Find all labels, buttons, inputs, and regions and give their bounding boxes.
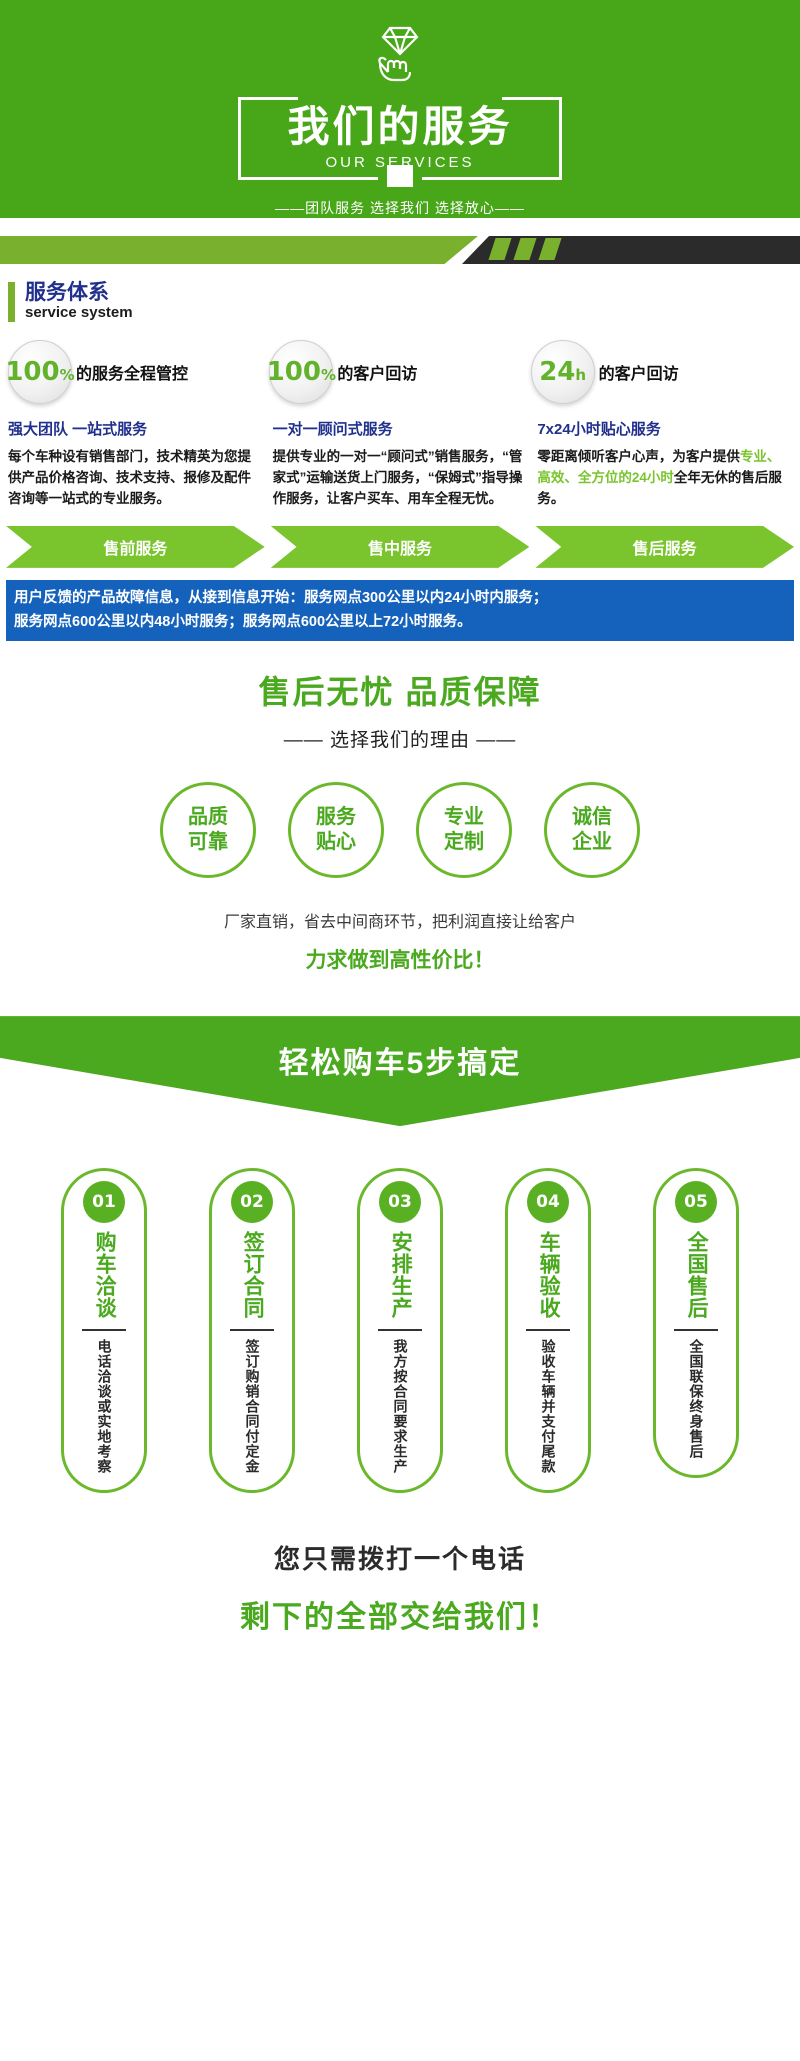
guarantee-circle-3-line1: 专业 bbox=[444, 805, 484, 830]
guarantee-circle-4-line1: 诚信 bbox=[572, 805, 612, 830]
step-capsule-5: 05 全国售后 全国联保终身售后 bbox=[653, 1168, 739, 1478]
hero-frame-tab bbox=[387, 165, 413, 187]
stage-arrow-aftersale[interactable]: 售后服务 bbox=[535, 526, 794, 568]
step-desc-5: 全国联保终身售后 bbox=[687, 1339, 706, 1459]
hero-banner: 我们的服务 OUR SERVICES ——团队服务 选择我们 选择放心—— bbox=[0, 0, 800, 218]
badge-unit-1: % bbox=[60, 366, 75, 384]
step-desc-1: 电话洽谈或实地考察 bbox=[95, 1339, 114, 1474]
guarantee-circle-2: 服务 贴心 bbox=[288, 782, 384, 878]
column-body-3-pre: 零距离倾听客户心声，为客户提供 bbox=[537, 449, 740, 464]
badge-unit-2: % bbox=[321, 366, 336, 384]
step-divider-4 bbox=[526, 1329, 570, 1331]
step-title-2: 签订合同 bbox=[240, 1231, 264, 1319]
badge-circle-icon-3: 24h bbox=[531, 340, 595, 404]
step-title-5: 全国售后 bbox=[684, 1231, 708, 1319]
step-desc-3: 我方按合同要求生产 bbox=[391, 1339, 410, 1474]
step-desc-4: 验收车辆并支付尾款 bbox=[539, 1339, 558, 1474]
step-item-1[interactable]: 01 购车洽谈 电话洽谈或实地考察 bbox=[37, 1168, 171, 1493]
badge-circle-icon-1: 100% bbox=[8, 340, 72, 404]
step-item-3[interactable]: 03 安排生产 我方按合同要求生产 bbox=[333, 1168, 467, 1493]
section-title-cn: 服务体系 bbox=[25, 282, 133, 304]
stage-arrow-insale[interactable]: 售中服务 bbox=[271, 526, 530, 568]
section-heading: 服务体系 service system bbox=[0, 270, 800, 322]
step-divider-5 bbox=[674, 1329, 718, 1331]
column-heading-3: 7x24小时贴心服务 bbox=[537, 418, 792, 439]
badge-value-3: 24 bbox=[539, 357, 575, 387]
column-body-1: 每个车种设有销售部门，技术精英为您提供产品价格咨询、技术支持、报修及配件咨询等一… bbox=[8, 447, 263, 510]
diamond-hand-icon bbox=[372, 22, 428, 89]
badge-item-3: 24h 的客户回访 bbox=[531, 340, 792, 404]
notice-line-2: 服务网点600公里以内48小时服务；服务网点600公里以上72小时服务。 bbox=[14, 610, 786, 635]
badge-label-1: 的服务全程管控 bbox=[76, 360, 188, 384]
step-number-3: 03 bbox=[379, 1181, 421, 1223]
step-item-5[interactable]: 05 全国售后 全国联保终身售后 bbox=[629, 1168, 763, 1493]
step-number-1: 01 bbox=[83, 1181, 125, 1223]
step-title-3: 安排生产 bbox=[388, 1231, 412, 1319]
hero-title: 我们的服务 bbox=[287, 106, 512, 148]
step-number-5: 05 bbox=[675, 1181, 717, 1223]
badge-circle-icon-2: 100% bbox=[269, 340, 333, 404]
badge-item-1: 100% 的服务全程管控 bbox=[8, 340, 269, 404]
ribbon-green-bar bbox=[0, 236, 478, 264]
decorative-ribbon bbox=[0, 228, 800, 270]
step-title-1: 购车洽谈 bbox=[92, 1231, 116, 1319]
footer-line-1: 您只需拨打一个电话 bbox=[0, 1539, 800, 1576]
column-body-2: 提供专业的一对一“顾问式”销售服务，“管家式”运输送货上门服务，“保姆式”指导操… bbox=[273, 447, 528, 510]
service-column-3: 7x24小时贴心服务 零距离倾听客户心声，为客户提供专业、高效、全方位的24小时… bbox=[537, 418, 792, 510]
hero-title-frame: 我们的服务 OUR SERVICES bbox=[238, 97, 562, 180]
service-columns: 强大团队 一站式服务 每个车种设有销售部门，技术精英为您提供产品价格咨询、技术支… bbox=[0, 418, 800, 510]
section-accent-bar bbox=[8, 282, 15, 322]
guarantee-note-1: 厂家直销，省去中间商环节，把利润直接让给客户 bbox=[0, 908, 800, 932]
chevron-shape: 轻松购车5步搞定 bbox=[0, 1016, 800, 1126]
column-heading-2: 一对一顾问式服务 bbox=[273, 418, 528, 439]
chevron-banner: 轻松购车5步搞定 bbox=[0, 1016, 800, 1126]
service-column-1: 强大团队 一站式服务 每个车种设有销售部门，技术精英为您提供产品价格咨询、技术支… bbox=[8, 418, 263, 510]
service-stage-arrows: 售前服务 售中服务 售后服务 bbox=[0, 526, 800, 568]
stage-arrow-presale[interactable]: 售前服务 bbox=[6, 526, 265, 568]
purchase-steps: 01 购车洽谈 电话洽谈或实地考察 02 签订合同 签订购销合同付定金 03 安… bbox=[0, 1168, 800, 1493]
step-number-4: 04 bbox=[527, 1181, 569, 1223]
guarantee-circle-1-line1: 品质 bbox=[188, 805, 228, 830]
step-capsule-4: 04 车辆验收 验收车辆并支付尾款 bbox=[505, 1168, 591, 1493]
guarantee-circle-4: 诚信 企业 bbox=[544, 782, 640, 878]
guarantee-circle-1: 品质 可靠 bbox=[160, 782, 256, 878]
badge-label-2: 的客户回访 bbox=[337, 360, 417, 384]
badge-label-3: 的客户回访 bbox=[599, 360, 679, 384]
notice-bar: 用户反馈的产品故障信息，从接到信息开始：服务网点300公里以内24小时内服务； … bbox=[6, 580, 794, 641]
footer-line-2: 剩下的全部交给我们！ bbox=[0, 1592, 800, 1636]
column-heading-1: 强大团队 一站式服务 bbox=[8, 418, 263, 439]
hero-tagline: ——团队服务 选择我们 选择放心—— bbox=[275, 198, 525, 218]
guarantee-note-2: 力求做到高性价比！ bbox=[0, 944, 800, 974]
step-divider-2 bbox=[230, 1329, 274, 1331]
badge-unit-3: h bbox=[575, 366, 586, 384]
step-divider-3 bbox=[378, 1329, 422, 1331]
badge-row: 100% 的服务全程管控 100% 的客户回访 24h 的客户回访 bbox=[0, 340, 800, 404]
step-capsule-2: 02 签订合同 签订购销合同付定金 bbox=[209, 1168, 295, 1493]
badge-item-2: 100% 的客户回访 bbox=[269, 340, 530, 404]
step-item-4[interactable]: 04 车辆验收 验收车辆并支付尾款 bbox=[481, 1168, 615, 1493]
guarantee-circle-4-line2: 企业 bbox=[572, 830, 612, 855]
guarantee-circle-3-line2: 定制 bbox=[444, 830, 484, 855]
guarantee-circle-2-line2: 贴心 bbox=[316, 830, 356, 855]
step-capsule-3: 03 安排生产 我方按合同要求生产 bbox=[357, 1168, 443, 1493]
service-column-2: 一对一顾问式服务 提供专业的一对一“顾问式”销售服务，“管家式”运输送货上门服务… bbox=[273, 418, 528, 510]
step-title-4: 车辆验收 bbox=[536, 1231, 560, 1319]
step-capsule-1: 01 购车洽谈 电话洽谈或实地考察 bbox=[61, 1168, 147, 1493]
guarantee-subtitle: —— 选择我们的理由 —— bbox=[0, 725, 800, 752]
section-title-en: service system bbox=[25, 304, 133, 322]
service-infographic-page: 我们的服务 OUR SERVICES ——团队服务 选择我们 选择放心—— 服务… bbox=[0, 0, 800, 1636]
step-number-2: 02 bbox=[231, 1181, 273, 1223]
chevron-title: 轻松购车5步搞定 bbox=[279, 1038, 522, 1082]
badge-value-1: 100 bbox=[5, 357, 59, 387]
guarantee-circle-2-line1: 服务 bbox=[316, 805, 356, 830]
column-body-3: 零距离倾听客户心声，为客户提供专业、高效、全方位的24小时全年无休的售后服务。 bbox=[537, 447, 792, 510]
step-item-2[interactable]: 02 签订合同 签订购销合同付定金 bbox=[185, 1168, 319, 1493]
notice-line-1: 用户反馈的产品故障信息，从接到信息开始：服务网点300公里以内24小时内服务； bbox=[14, 586, 786, 611]
guarantee-circle-1-line2: 可靠 bbox=[188, 830, 228, 855]
guarantee-circle-row: 品质 可靠 服务 贴心 专业 定制 诚信 企业 bbox=[0, 782, 800, 878]
badge-value-2: 100 bbox=[267, 357, 321, 387]
guarantee-title: 售后无忧 品质保障 bbox=[0, 667, 800, 713]
step-desc-2: 签订购销合同付定金 bbox=[243, 1339, 262, 1474]
guarantee-circle-3: 专业 定制 bbox=[416, 782, 512, 878]
step-divider-1 bbox=[82, 1329, 126, 1331]
